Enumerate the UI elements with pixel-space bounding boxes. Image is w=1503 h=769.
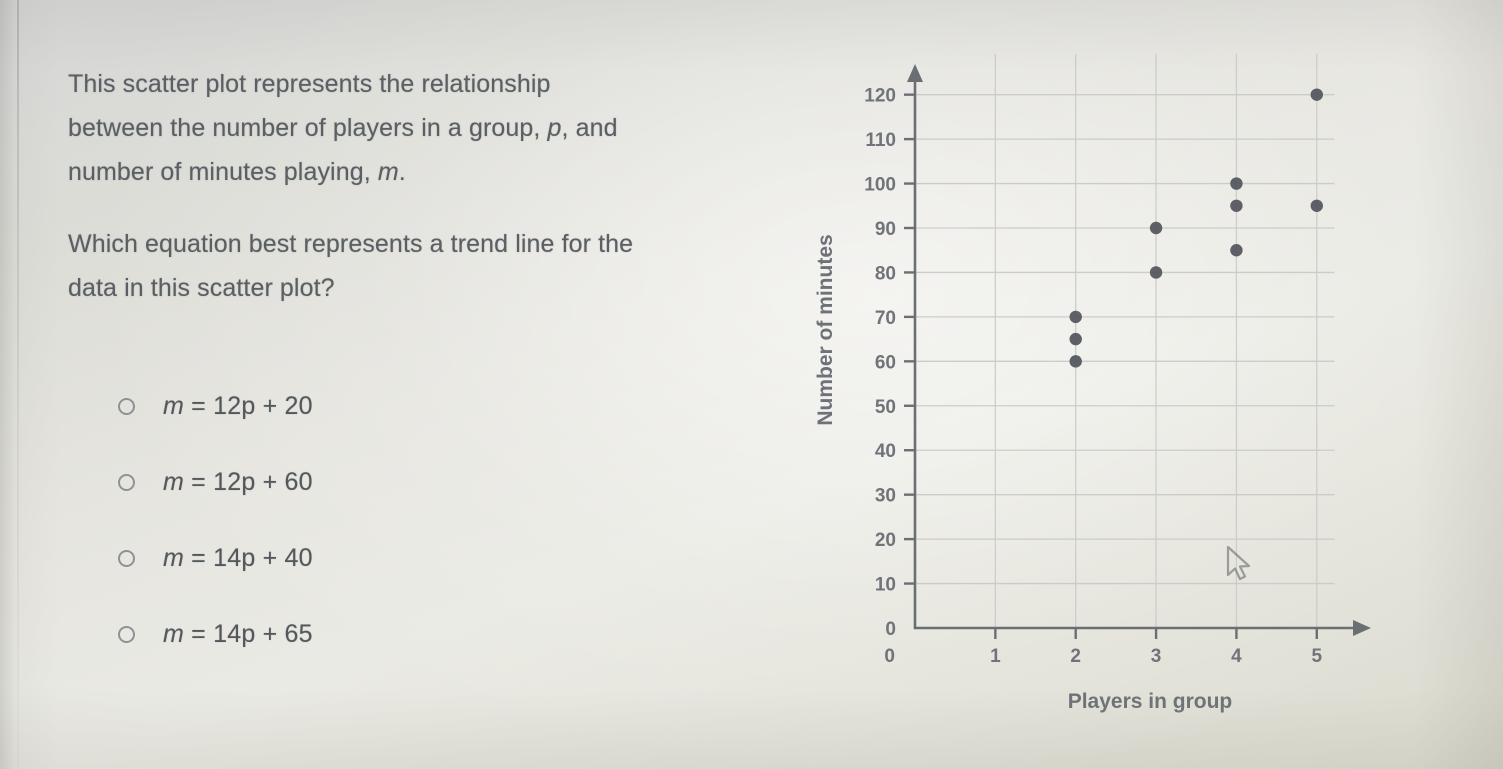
y-tick-label: 60 <box>875 352 896 373</box>
y-tick-label: 120 <box>864 86 896 107</box>
y-tick-label: 20 <box>875 530 896 551</box>
data-point <box>1070 355 1082 367</box>
data-point <box>1150 266 1162 278</box>
option-d-label: m = 14p + 65 <box>163 620 313 649</box>
option-c-label: m = 14p + 40 <box>163 544 313 573</box>
y-tick-label: 40 <box>875 441 896 462</box>
data-point <box>1230 177 1242 189</box>
scatter-plot-svg: 0102030405060708090100110120 012345 Numb… <box>790 40 1410 730</box>
option-d[interactable]: m = 14p + 65 <box>118 596 738 672</box>
data-point <box>1070 333 1082 345</box>
data-point <box>1070 311 1082 323</box>
y-axis-title: Number of minutes <box>814 234 837 425</box>
question-line-3: number of minutes playing, m. <box>68 150 768 194</box>
option-b-label: m = 12p + 60 <box>163 468 313 497</box>
question-text-block: This scatter plot represents the relatio… <box>68 62 768 310</box>
scatter-plot: 0102030405060708090100110120 012345 Numb… <box>790 40 1410 730</box>
option-a-label: m = 12p + 20 <box>163 392 313 421</box>
x-tick-label: 2 <box>1070 646 1081 667</box>
question-line-1: This scatter plot represents the relatio… <box>68 62 768 106</box>
gridlines <box>915 54 1334 628</box>
y-tick-label: 10 <box>875 575 896 596</box>
screen-edge-line <box>17 0 19 769</box>
x-tick-label: 0 <box>884 646 895 667</box>
y-tick-label: 80 <box>875 263 896 284</box>
y-tick-label: 30 <box>875 486 896 507</box>
option-a[interactable]: m = 12p + 20 <box>118 368 738 444</box>
data-point <box>1311 200 1323 212</box>
question-line-4: Which equation best represents a trend l… <box>68 222 768 266</box>
paragraph-spacer <box>68 194 768 222</box>
x-tick-label: 3 <box>1151 646 1162 667</box>
y-tick-label: 100 <box>864 175 896 196</box>
y-tick-label: 110 <box>865 130 896 151</box>
x-tick-label: 4 <box>1231 646 1242 667</box>
radio-button-c[interactable] <box>118 550 135 567</box>
data-point <box>1230 244 1242 256</box>
radio-button-b[interactable] <box>118 474 135 491</box>
x-axis-tick-labels: 012345 <box>884 646 1322 667</box>
data-point <box>1311 88 1323 100</box>
option-b[interactable]: m = 12p + 60 <box>118 444 738 520</box>
y-axis-tick-labels: 0102030405060708090100110120 <box>864 86 896 640</box>
question-line-2: between the number of players in a group… <box>68 106 768 150</box>
question-line-5: data in this scatter plot? <box>68 266 768 310</box>
radio-button-d[interactable] <box>118 626 135 643</box>
mouse-pointer-icon <box>1224 545 1258 585</box>
x-tick-label: 5 <box>1311 646 1322 667</box>
x-tick-label: 1 <box>990 646 1001 667</box>
x-axis-title: Players in group <box>1068 690 1233 713</box>
data-point <box>1150 222 1162 234</box>
radio-button-a[interactable] <box>118 398 135 415</box>
y-tick-label: 70 <box>875 308 896 329</box>
cursor-layer <box>1224 545 1258 585</box>
y-tick-label: 90 <box>875 219 896 240</box>
data-point <box>1230 200 1242 212</box>
answer-options-list: m = 12p + 20 m = 12p + 60 m = 14p + 40 m… <box>118 368 738 672</box>
option-c[interactable]: m = 14p + 40 <box>118 520 738 596</box>
y-tick-label: 0 <box>885 619 896 640</box>
y-tick-label: 50 <box>875 397 896 418</box>
axes <box>907 64 1371 636</box>
